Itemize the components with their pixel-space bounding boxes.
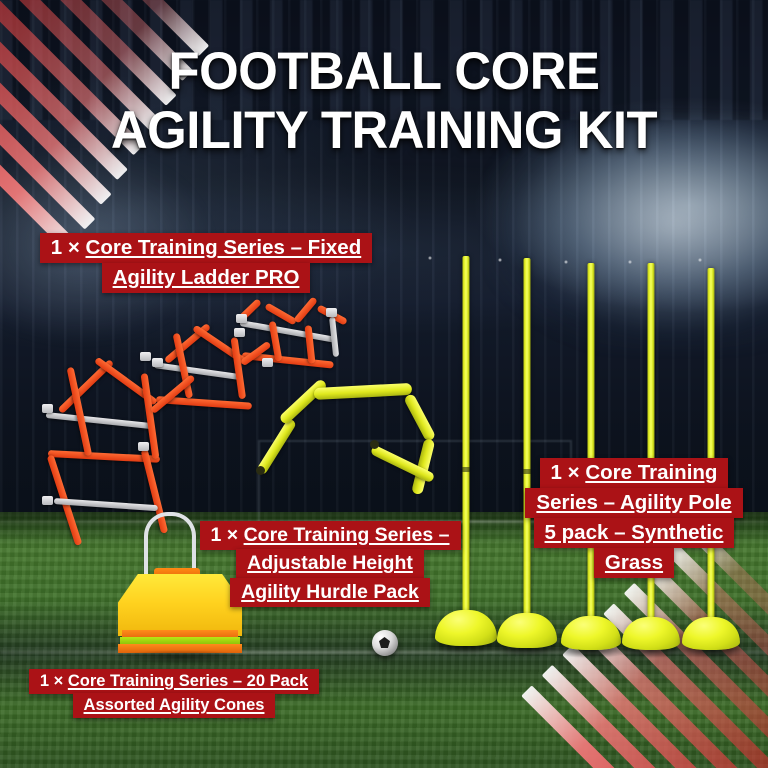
pole-base [682,617,740,650]
label-text: 5 pack – Synthetic [545,521,724,544]
label-qty: 1 × [551,461,586,484]
ladder-bar [164,323,211,364]
ladder-joint-cap [234,328,245,337]
pole-shaft [524,258,531,644]
label-text: Assorted Agility Cones [84,696,265,714]
label-text: Series – Agility Pole [536,491,731,514]
ladder-joint-cap [42,496,53,505]
ladder-joint-cap [326,308,337,317]
pole-shaft [588,263,595,646]
ladder-bar [293,296,318,323]
pole-shaft [708,268,715,646]
label-qty: 1 × [51,236,86,259]
ladder-joint-cap [152,358,163,367]
ladder-joint-cap [138,442,149,451]
ladder-bar [239,320,335,343]
title-line-2: AGILITY TRAINING KIT [15,101,752,160]
label-agility-ladder: 1 × Core Training Series – Fixed Agility… [10,233,402,293]
label-agility-pole: 1 × Core Training Series – Agility Pole … [512,458,756,578]
ladder-bar [329,317,339,357]
label-text: Core Training Series – Fixed [86,236,362,259]
ladder-joint-cap [42,404,53,413]
label-qty: 1 × [40,672,68,690]
ladder-bar [154,362,242,380]
pole-joint [462,467,470,472]
label-text: Adjustable Height [247,552,413,574]
ladder-joint-cap [236,314,247,323]
product-poster: FOOTBALL CORE AGILITY TRAINING KIT 1 × C… [0,0,768,768]
label-agility-hurdle: 1 × Core Training Series – Adjustable He… [192,521,468,606]
pole-base [497,613,557,648]
ladder-bar [231,337,247,399]
ladder-bar [46,412,154,429]
label-text: Agility Ladder PRO [113,266,300,289]
football-icon [372,630,398,656]
label-text: Core Training Series – [244,524,450,546]
label-text: Grass [605,551,663,574]
label-text: Core Training Series – 20 Pack [68,672,308,690]
ladder-joint-cap [262,358,273,367]
label-text: Core Training [585,461,717,484]
label-text: Agility Hurdle Pack [241,581,419,603]
agility-hurdle-icon [252,382,462,522]
label-qty: 1 × [211,524,244,546]
pole-shaft [648,263,655,646]
cone-ground-shadow [112,650,252,664]
title-line-1: FOOTBALL CORE [15,42,752,101]
label-agility-cones: 1 × Core Training Series – 20 Pack Assor… [18,669,330,717]
page-title: FOOTBALL CORE AGILITY TRAINING KIT [15,42,752,161]
ladder-joint-cap [140,352,151,361]
